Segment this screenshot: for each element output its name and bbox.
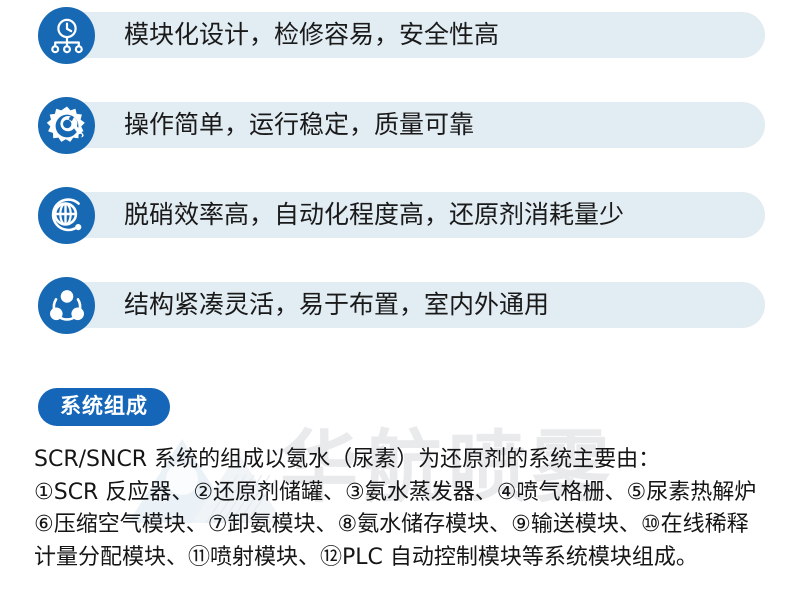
clock-hierarchy-icon	[38, 7, 95, 64]
globe-icon	[38, 187, 95, 244]
feature-row: 脱硝效率高，自动化程度高，还原剂消耗量少	[0, 180, 790, 250]
feature-row: 模块化设计，检修容易，安全性高	[0, 0, 790, 70]
paragraph-line: 计量分配模块、⑪喷射模块、⑫PLC 自动控制模块等系统模块组成。	[34, 542, 776, 575]
feature-label: 脱硝效率高，自动化程度高，还原剂消耗量少	[124, 192, 624, 238]
feature-list: 模块化设计，检修容易，安全性高 操作简单，运行稳定，质量可靠	[0, 0, 790, 360]
feature-row: 结构紧凑灵活，易于布置，室内外通用	[0, 270, 790, 340]
feature-label: 结构紧凑灵活，易于布置，室内外通用	[124, 282, 549, 328]
paragraph-line: ①SCR 反应器、②还原剂储罐、③氨水蒸发器、④喷气格栅、⑤尿素热解炉	[34, 477, 776, 510]
system-composition-paragraph: SCR/SNCR 系统的组成以氨水（尿素）为还原剂的系统主要由： ①SCR 反应…	[34, 444, 776, 574]
paragraph-line: SCR/SNCR 系统的组成以氨水（尿素）为还原剂的系统主要由：	[34, 444, 776, 477]
feature-row: 操作简单，运行稳定，质量可靠	[0, 90, 790, 160]
paragraph-line: ⑥压缩空气模块、⑦卸氨模块、⑧氨水储存模块、⑨输送模块、⑩在线稀释	[34, 509, 776, 542]
status-badge: 系统组成	[38, 388, 170, 426]
gear-wrench-icon	[38, 97, 95, 154]
share-network-icon	[38, 277, 95, 334]
feature-label: 模块化设计，检修容易，安全性高	[124, 12, 499, 58]
feature-label: 操作简单，运行稳定，质量可靠	[124, 102, 474, 148]
section-header: 系统组成	[0, 388, 790, 426]
